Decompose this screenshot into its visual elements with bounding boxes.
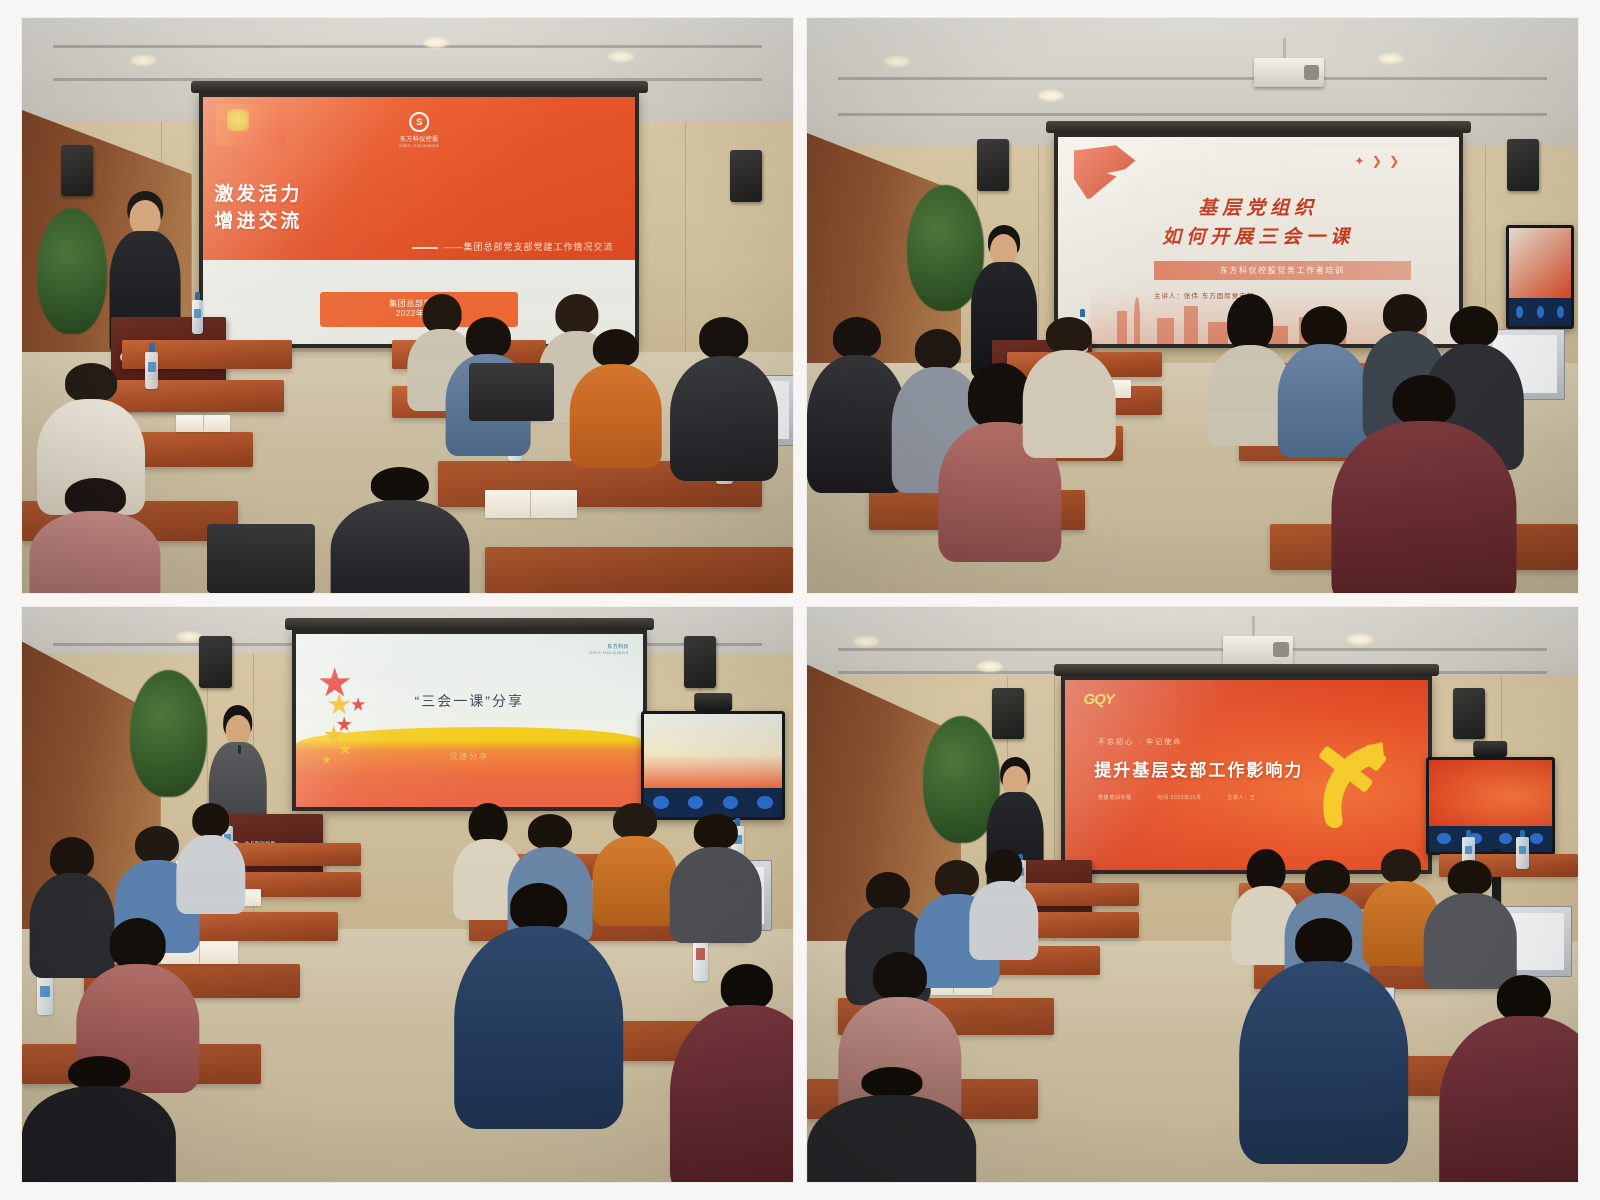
attendee: [807, 1067, 977, 1182]
speaker-icon: [684, 636, 716, 688]
birds-graphic: ✦ ❯ ❯: [1354, 154, 1426, 179]
screen-roller: [191, 81, 648, 93]
attendee: [176, 803, 245, 912]
speaker-icon: [61, 145, 93, 197]
camera-icon: [1473, 741, 1507, 757]
attendee: [969, 849, 1038, 958]
attendee: [670, 814, 763, 941]
screen-roller: [285, 618, 654, 630]
notebook-icon: [485, 490, 578, 519]
projection-screen: GQY 不忘初心 · 牢记使命 提升基层支部工作影响力 党建培训专题 时间 20…: [1061, 676, 1431, 874]
water-bottle-icon: [1516, 837, 1528, 869]
gqy-logo: GQY: [1084, 691, 1114, 708]
plant-icon: [37, 208, 106, 335]
speaker-icon: [199, 636, 231, 688]
conference-room-scene: 东方科仪 OSIC HOLDINGS “三会一课”分享 党建分享: [22, 607, 793, 1182]
speaker-icon: [730, 150, 762, 202]
attendee: [454, 883, 624, 1125]
camera-icon: [694, 693, 732, 711]
photo-panel-bottom-right[interactable]: GQY 不忘初心 · 牢记使命 提升基层支部工作影响力 党建培训专题 时间 20…: [807, 607, 1578, 1182]
microphone-icon: [1015, 795, 1018, 804]
microphone-icon: [1002, 265, 1005, 274]
chair: [207, 524, 315, 593]
slide-kicker: 不忘初心 · 牢记使命: [1098, 737, 1182, 747]
attendee: [569, 329, 662, 467]
attendee: [30, 478, 161, 593]
water-bottle-icon: [145, 352, 158, 389]
attendee: [1239, 918, 1409, 1160]
plant-icon: [130, 670, 207, 797]
screen-roller: [1046, 121, 1471, 133]
slide-content-bottom-left: 东方科仪 OSIC HOLDINGS “三会一课”分享 党建分享: [296, 634, 643, 807]
slide-title: 提升基层支部工作影响力: [1094, 756, 1303, 781]
slide-content-bottom-right: GQY 不忘初心 · 牢记使命 提升基层支部工作影响力 党建培训专题 时间 20…: [1065, 680, 1427, 870]
photo-collage: S 东方科仪控股 OSIC HOLDINGS 丰富形式 激发活力 优化结构: [0, 0, 1600, 1200]
projector-icon: [1254, 58, 1323, 87]
photo-panel-bottom-left[interactable]: 东方科仪 OSIC HOLDINGS “三会一课”分享 党建分享: [22, 607, 793, 1182]
party-emblem-icon: [227, 109, 249, 131]
attendee: [670, 964, 793, 1183]
notebook-icon: [176, 415, 230, 432]
microphone-icon: [142, 234, 145, 243]
speaker-icon: [992, 688, 1024, 740]
speaker-icon: [1453, 688, 1485, 740]
water-bottle-icon: [37, 975, 52, 1015]
ribbon-graphic: [1074, 145, 1142, 199]
water-bottle-icon: [192, 300, 204, 335]
monitor-icon[interactable]: [1426, 757, 1555, 855]
slide-footer: 党建分享: [296, 751, 643, 762]
photo-panel-top-left[interactable]: S 东方科仪控股 OSIC HOLDINGS 丰富形式 激发活力 优化结构: [22, 18, 793, 593]
slide-title-line1: 基层党组织: [1058, 193, 1459, 220]
screen-roller: [1054, 664, 1439, 676]
conference-room-scene: GQY 不忘初心 · 牢记使命 提升基层支部工作影响力 党建培训专题 时间 20…: [807, 607, 1578, 1182]
conference-room-scene: ✦ ❯ ❯ 基层党组织 如何开展三会一课 东方科仪控股党务工作者培训 主讲人：张…: [807, 18, 1578, 593]
microphone-icon: [238, 745, 241, 754]
slide-subtitle: ——集团总部党支部党建工作情况交流: [412, 240, 613, 253]
speaker-icon: [977, 139, 1009, 191]
photo-panel-top-right[interactable]: ✦ ❯ ❯ 基层党组织 如何开展三会一课 东方科仪控股党务工作者培训 主讲人：张…: [807, 18, 1578, 593]
desk: [485, 547, 793, 593]
projector-icon: [1223, 636, 1292, 665]
attendee: [330, 467, 469, 594]
slide-corp-logo: 东方科仪 OSIC HOLDINGS: [589, 643, 629, 655]
attendee: [670, 317, 778, 478]
attendee: [1331, 375, 1516, 594]
projection-screen: 东方科仪 OSIC HOLDINGS “三会一课”分享 党建分享: [292, 630, 647, 811]
slide-org-logo: S 东方科仪控股 OSIC HOLDINGS: [399, 112, 439, 148]
slide-title-line2: 如何开展三会一课: [1058, 222, 1459, 249]
chair: [469, 363, 554, 421]
attendee: [22, 1056, 176, 1183]
hammer-sickle-icon: [1290, 729, 1413, 839]
attendee: [1023, 317, 1116, 455]
attendee: [1424, 860, 1517, 987]
slide-title: “三会一课”分享: [296, 691, 643, 711]
slide-headline: 丰富形式 激发活力 优化结构 增进交流: [203, 181, 419, 236]
speaker-icon: [1507, 139, 1539, 191]
attendee: [1439, 975, 1578, 1182]
slide-banner: 东方科仪控股党务工作者培训: [1154, 261, 1411, 280]
conference-room-scene: S 东方科仪控股 OSIC HOLDINGS 丰富形式 激发活力 优化结构: [22, 18, 793, 593]
